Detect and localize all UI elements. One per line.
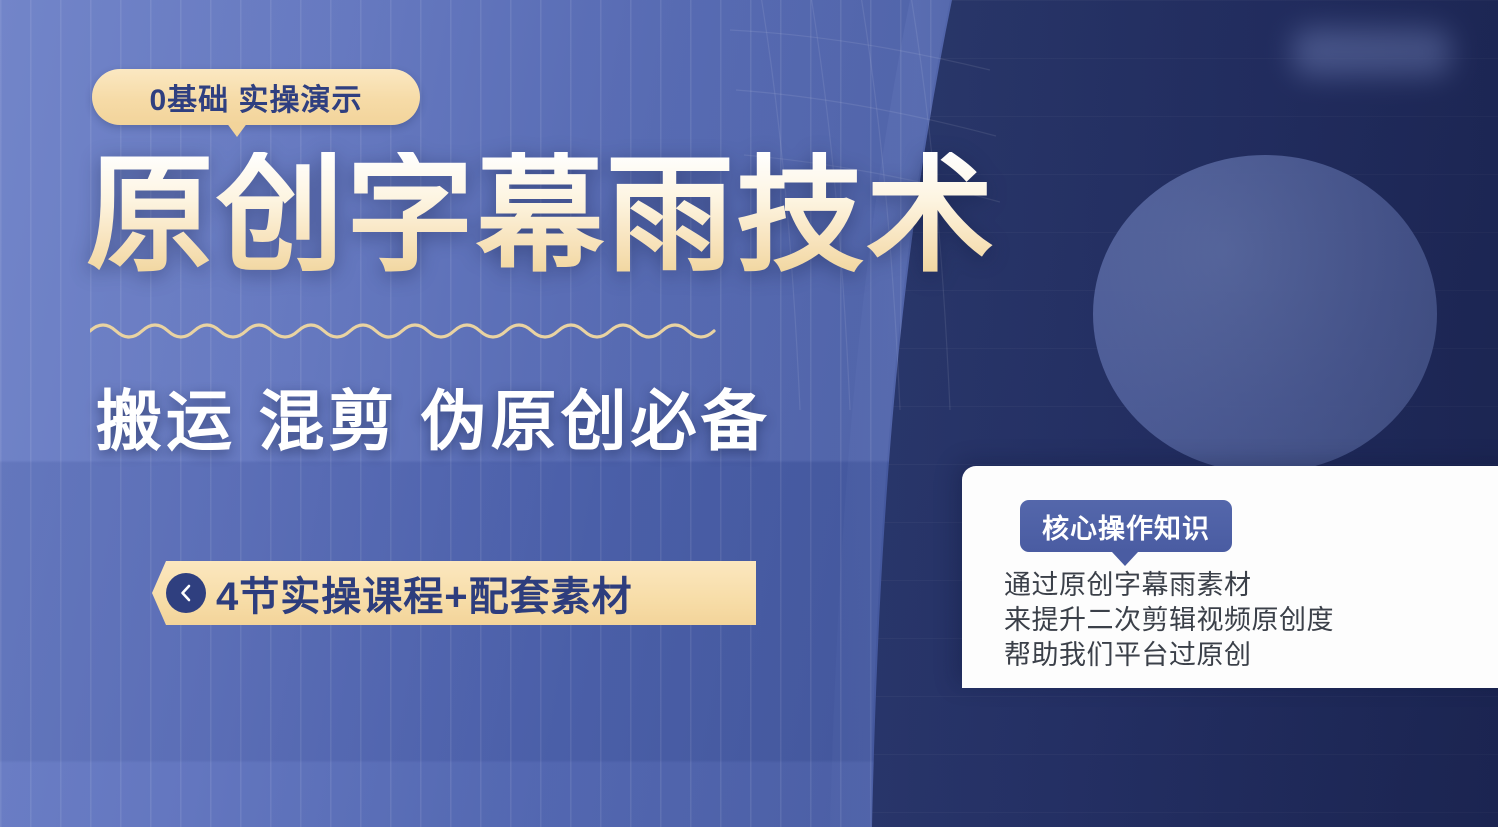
info-card-contents: 核心操作知识 通过原创字幕雨素材 来提升二次剪辑视频原创度 帮助我们平台过原创 <box>0 0 1498 827</box>
info-card-line: 通过原创字幕雨素材 <box>1004 568 1484 603</box>
info-card-body: 通过原创字幕雨素材 来提升二次剪辑视频原创度 帮助我们平台过原创 <box>1004 568 1484 673</box>
info-card-line: 帮助我们平台过原创 <box>1004 638 1484 673</box>
info-card-line: 来提升二次剪辑视频原创度 <box>1004 603 1484 638</box>
info-card-label-chip: 核心操作知识 <box>1020 500 1232 552</box>
promo-poster: 0基础 实操演示 原创字幕雨技术 搬运 混剪 伪原创必备 4节实操课程+配套素材… <box>0 0 1498 827</box>
info-card-label-pointer <box>1112 552 1138 566</box>
info-card-label-text: 核心操作知识 <box>1042 507 1210 546</box>
